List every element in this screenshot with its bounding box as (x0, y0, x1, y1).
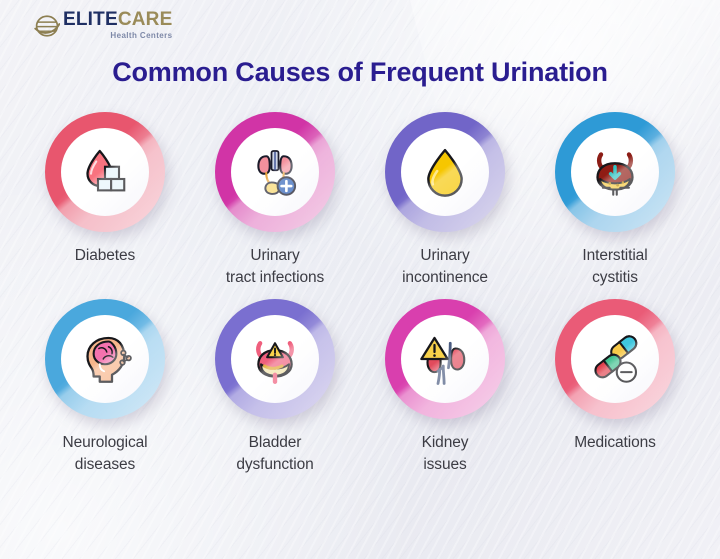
page-title: Common Causes of Frequent Urination (0, 57, 720, 88)
icon-badge-medications[interactable] (555, 299, 675, 419)
causes-grid: Diabetes (0, 112, 720, 476)
cause-label-medications: Medications (574, 432, 656, 454)
infographic-canvas: ELITECARE Health Centers Common Causes o… (0, 0, 720, 559)
cause-label-kidney-issues: Kidney issues (422, 432, 469, 476)
icon-badge-interstitial-cystitis[interactable] (555, 112, 675, 232)
cause-label-line1: Diabetes (75, 247, 135, 264)
brand-logo: ELITECARE Health Centers (34, 10, 172, 40)
causes-row-1: Diabetes (0, 112, 720, 289)
icon-badge-neurological-diseases[interactable] (45, 299, 165, 419)
cause-label-line1: Interstitial (582, 247, 647, 264)
urine-drop-icon (417, 144, 473, 200)
cause-item-urinary-incontinence[interactable]: Urinary incontinence (360, 112, 530, 289)
cause-label-line1: Bladder (249, 434, 302, 451)
cause-item-bladder-dysfunction[interactable]: Bladder dysfunction (190, 299, 360, 476)
kidneys-warning-icon (417, 331, 473, 387)
icon-badge-bladder-dysfunction[interactable] (215, 299, 335, 419)
icon-badge-diabetes[interactable] (45, 112, 165, 232)
globe-swoosh-icon (34, 13, 60, 39)
cause-label-line1: Medications (574, 434, 656, 451)
cause-item-diabetes[interactable]: Diabetes (20, 112, 190, 289)
cause-item-kidney-issues[interactable]: Kidney issues (360, 299, 530, 476)
cause-label-neurological-diseases: Neurological diseases (63, 432, 148, 476)
cause-item-interstitial-cystitis[interactable]: Interstitial cystitis (530, 112, 700, 289)
icon-badge-kidney-issues[interactable] (385, 299, 505, 419)
cause-label-line2: incontinence (402, 267, 488, 289)
brand-name-part2: CARE (118, 9, 173, 30)
blood-drop-sugar-cubes-icon (77, 144, 133, 200)
cause-label-line2: tract infections (226, 267, 324, 289)
cause-label-bladder-dysfunction: Bladder dysfunction (236, 432, 313, 476)
cause-label-line2: dysfunction (236, 454, 313, 476)
cause-item-urinary-tract-infections[interactable]: Urinary tract infections (190, 112, 360, 289)
pills-capsules-icon (587, 331, 643, 387)
cause-label-urinary-tract-infections: Urinary tract infections (226, 245, 324, 289)
cause-label-line1: Kidney (422, 434, 469, 451)
cause-item-neurological-diseases[interactable]: Neurological diseases (20, 299, 190, 476)
head-brain-nerve-icon (77, 331, 133, 387)
bladder-warning-icon (247, 331, 303, 387)
icon-badge-urinary-tract-infections[interactable] (215, 112, 335, 232)
cause-item-medications[interactable]: Medications (530, 299, 700, 476)
cause-label-line1: Urinary (420, 247, 469, 264)
inflamed-bladder-icon (587, 144, 643, 200)
kidneys-bladder-plus-icon (247, 144, 303, 200)
cause-label-line2: diseases (63, 454, 148, 476)
cause-label-interstitial-cystitis: Interstitial cystitis (582, 245, 647, 289)
brand-name-part1: ELITE (63, 9, 118, 30)
cause-label-line2: cystitis (582, 267, 647, 289)
cause-label-diabetes: Diabetes (75, 245, 135, 267)
icon-badge-urinary-incontinence[interactable] (385, 112, 505, 232)
cause-label-line1: Neurological (63, 434, 148, 451)
brand-tagline: Health Centers (63, 32, 172, 40)
cause-label-line2: issues (422, 454, 469, 476)
cause-label-urinary-incontinence: Urinary incontinence (402, 245, 488, 289)
causes-row-2: Neurological diseases (0, 299, 720, 476)
cause-label-line1: Urinary (250, 247, 299, 264)
